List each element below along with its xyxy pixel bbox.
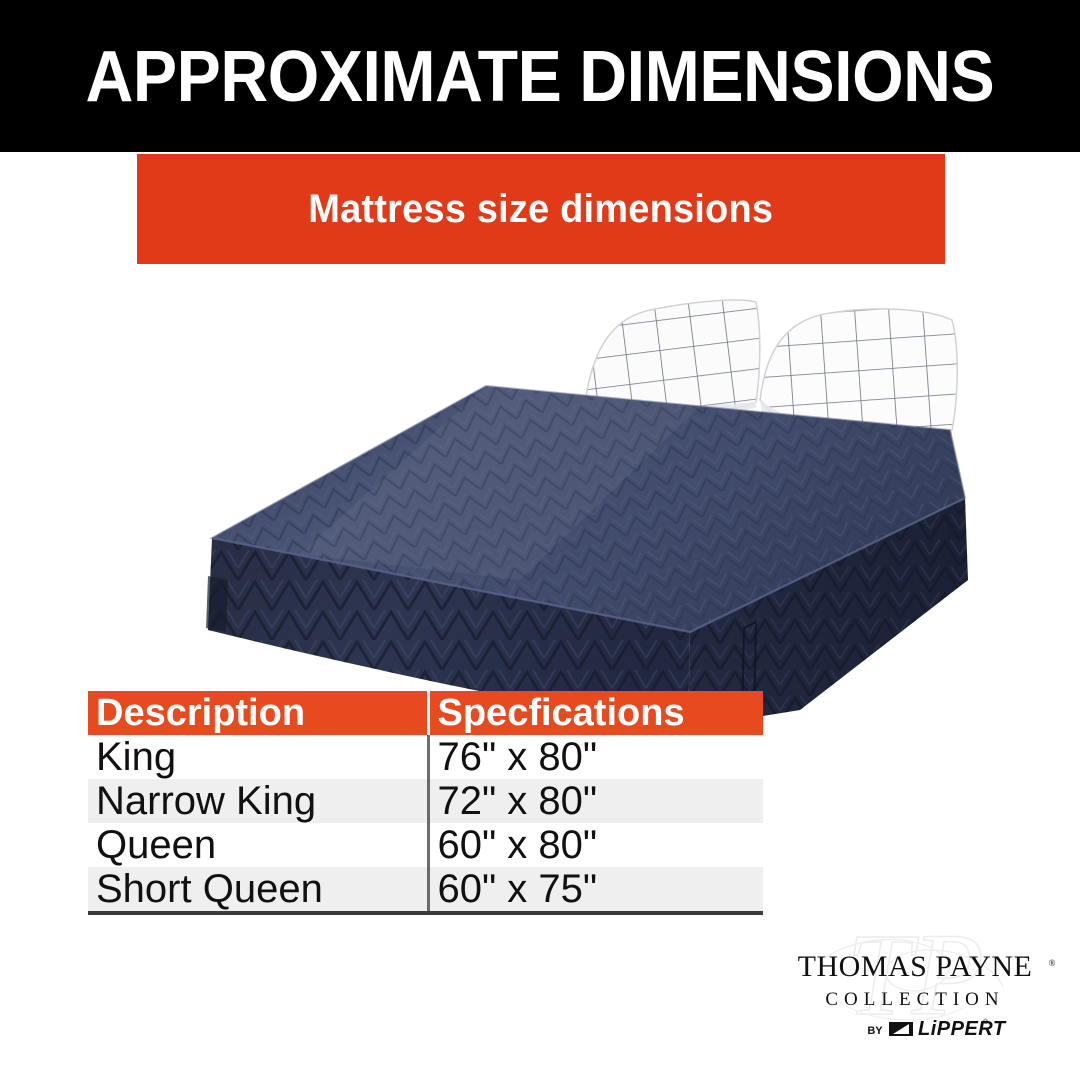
- product-image: [0, 280, 1080, 750]
- header-band: APPROXIMATE DIMENSIONS: [0, 0, 1080, 152]
- table-row: King 76" x 80": [88, 735, 763, 779]
- brand-logo: TP THOMAS PAYNE ® COLLECTION BY LiPPERT …: [765, 928, 1065, 1048]
- column-header-specifications: Specfications: [428, 691, 763, 735]
- logo-by-text: BY: [867, 1025, 883, 1037]
- column-header-description: Description: [88, 691, 428, 735]
- logo-registered-mark: ®: [1049, 958, 1056, 968]
- subtitle-text: Mattress size dimensions: [309, 189, 774, 229]
- cell-specification: 72" x 80": [428, 779, 763, 823]
- logo-collection-text: COLLECTION: [825, 989, 1004, 1010]
- cell-description: Narrow King: [88, 779, 428, 823]
- cell-specification: 76" x 80": [428, 735, 763, 779]
- poster-root: APPROXIMATE DIMENSIONS Mattress size dim…: [0, 0, 1080, 1080]
- cell-specification: 60" x 80": [428, 823, 763, 867]
- table-row: Narrow King 72" x 80": [88, 779, 763, 823]
- logo-parent-registered-mark: ®: [983, 1018, 989, 1026]
- table-row: Queen 60" x 80": [88, 823, 763, 867]
- specifications-table: Description Specfications King 76" x 80"…: [88, 691, 763, 915]
- page-title: APPROXIMATE DIMENSIONS: [86, 41, 995, 113]
- table-row: Short Queen 60" x 75": [88, 867, 763, 913]
- cell-specification: 60" x 75": [428, 867, 763, 913]
- logo-brand-text: THOMAS PAYNE: [798, 950, 1033, 983]
- subtitle-band: Mattress size dimensions: [137, 154, 945, 264]
- thomas-payne-logo: TP THOMAS PAYNE ® COLLECTION BY LiPPERT …: [765, 928, 1065, 1048]
- table-header-row: Description Specfications: [88, 691, 763, 735]
- cell-description: King: [88, 735, 428, 779]
- cell-description: Queen: [88, 823, 428, 867]
- mattress-illustration: [0, 280, 1080, 750]
- logo-parent-text: LiPPERT: [918, 1018, 1007, 1040]
- cell-description: Short Queen: [88, 867, 428, 913]
